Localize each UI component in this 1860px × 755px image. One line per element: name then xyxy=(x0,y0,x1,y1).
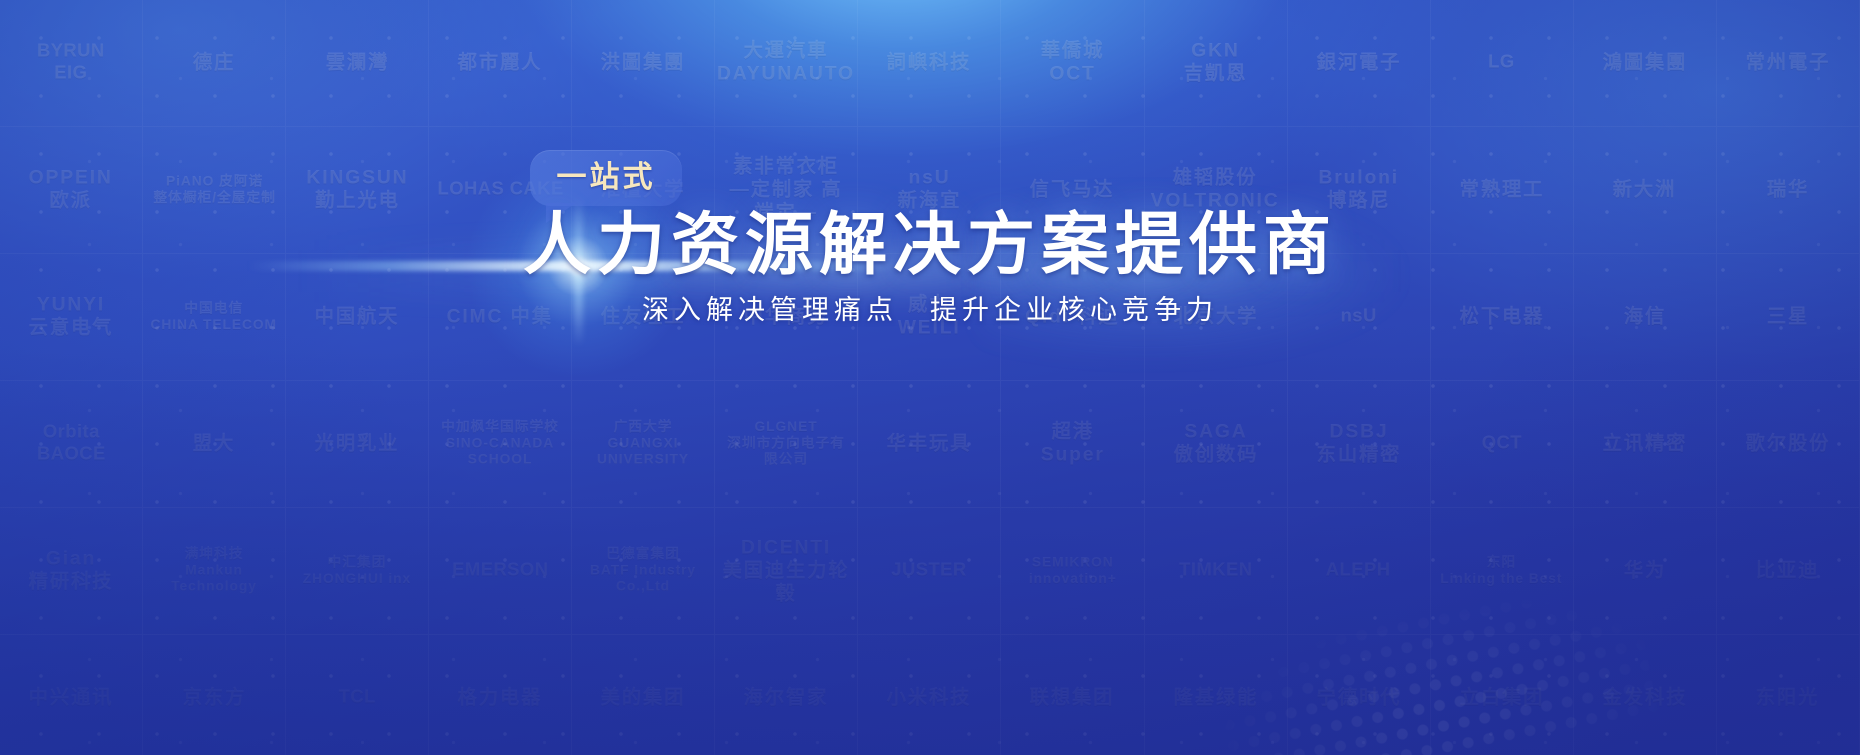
partner-logo: 联想集团 xyxy=(1030,687,1115,710)
logo-wall-cell: DICENTI 美国迪生力轮毂 xyxy=(715,508,858,635)
badge-label: 一站式 xyxy=(557,163,656,193)
logo-wall-cell: 隆基绿能 xyxy=(1145,635,1288,755)
page-title: 人力资源解决方案提供商 xyxy=(523,205,1337,285)
logo-wall-cell: 小米科技 xyxy=(858,635,1001,755)
subtitle-container: 深入解决管理痛点 提升企业核心竞争力 xyxy=(0,292,1860,330)
logo-wall-cell: 常州電子 xyxy=(1717,0,1860,127)
partner-logo: 美的集团 xyxy=(601,687,686,710)
partner-logo: ALEPH xyxy=(1326,560,1391,582)
partner-logo: 京东方 xyxy=(182,687,245,710)
logo-wall-cell: 大運汽車 DAYUNAUTO xyxy=(715,0,858,127)
logo-wall-cell: SEMIKRON innovation+ xyxy=(1001,508,1144,635)
logo-wall-cell: 鴻圖集團 xyxy=(1574,0,1717,127)
partner-logo: 銀河電子 xyxy=(1316,52,1401,75)
partner-logo: 都市麗人 xyxy=(458,52,543,75)
partner-logo: TCL xyxy=(339,687,376,709)
partner-logo: 超港 Super xyxy=(1040,421,1104,467)
partner-logo: EMERSON xyxy=(452,560,548,582)
partner-logo: 新大洲 xyxy=(1613,179,1676,202)
logo-wall-cell: 华丰玩具 xyxy=(858,381,1001,508)
partner-logo: PiANO 皮阿诺 整体橱柜/全屋定制 xyxy=(153,174,276,207)
logo-wall-cell: 华为 xyxy=(1574,508,1717,635)
partner-logo: GKN 吉凱恩 xyxy=(1184,40,1247,86)
partner-logo: 广西大学 GUANGXI UNIVERSITY xyxy=(578,420,709,469)
logo-wall-cell: 歌尔股份 xyxy=(1717,381,1860,508)
logo-wall-cell: 立白集团 xyxy=(1431,635,1574,755)
logo-wall-cell: 洪圖集團 xyxy=(572,0,715,127)
logo-wall-cell: EMERSON xyxy=(429,508,572,635)
partner-logo: 小米科技 xyxy=(887,687,972,710)
partner-logo: 常州電子 xyxy=(1745,52,1830,75)
logo-wall-cell: 詞嶼科技 xyxy=(858,0,1001,127)
partner-logo: 詞嶼科技 xyxy=(887,52,972,75)
logo-wall-cell: TIMKEN xyxy=(1145,508,1288,635)
partner-logo: 华为 xyxy=(1624,560,1666,583)
logo-wall-cell: LG xyxy=(1431,0,1574,127)
logo-wall-cell: 德庄 xyxy=(143,0,286,127)
logo-wall-cell: ALEPH xyxy=(1288,508,1431,635)
logo-wall-cell: Gian 精研科技 xyxy=(0,508,143,635)
partner-logo: 中汇集团 ZHONGHUI inx xyxy=(303,555,411,588)
page-subtitle: 深入解决管理痛点 提升企业核心竞争力 xyxy=(642,292,1218,330)
logo-wall-cell: 光明乳业 xyxy=(286,381,429,508)
logo-wall-cell: Orbita BAOCE xyxy=(0,381,143,508)
logo-wall-cell: 超港 Super xyxy=(1001,381,1144,508)
logo-wall-cell: 都市麗人 xyxy=(429,0,572,127)
logo-wall-cell: 立讯精密 xyxy=(1574,381,1717,508)
partner-logo: SEMIKRON innovation+ xyxy=(1028,555,1116,588)
partner-logo: 巴德富集团 BATF Industry Co.,Ltd xyxy=(578,547,709,596)
tagline-badge[interactable]: 一站式 xyxy=(530,150,682,206)
partner-logo: 金发科技 xyxy=(1602,687,1687,710)
partner-logo: DSBJ 东山精密 xyxy=(1316,421,1401,467)
partner-logo: TIMKEN xyxy=(1179,560,1252,582)
partner-logo: GLGNET 深圳市方向电子有限公司 xyxy=(721,420,852,469)
logo-wall-cell: 美的集团 xyxy=(572,635,715,755)
logo-wall-cell: 联想集团 xyxy=(1001,635,1144,755)
logo-wall-cell: QCT xyxy=(1431,381,1574,508)
partner-logo: 华丰玩具 xyxy=(887,433,972,456)
logo-wall-cell: JUSTER xyxy=(858,508,1001,635)
partner-logo: 大運汽車 DAYUNAUTO xyxy=(717,40,855,86)
logo-wall-cell: TCL xyxy=(286,635,429,755)
logo-wall-cell: 華僑城 OCT xyxy=(1001,0,1144,127)
partner-logo: 海尔智家 xyxy=(744,687,829,710)
partner-logo: 信飞马达 xyxy=(1030,179,1115,202)
partner-logo: 比亚迪 xyxy=(1756,560,1819,583)
partner-logo: QCT xyxy=(1482,433,1522,455)
logo-wall-cell: 中汇集团 ZHONGHUI inx xyxy=(286,508,429,635)
logo-wall-cell: 比亚迪 xyxy=(1717,508,1860,635)
logo-wall-cell: 金发科技 xyxy=(1574,635,1717,755)
partner-logo: 德庄 xyxy=(193,52,235,75)
partner-logo: 華僑城 OCT xyxy=(1041,40,1104,86)
partner-logo: 宁德时代 xyxy=(1316,687,1401,710)
partner-logo: 东阳光 xyxy=(1756,687,1819,710)
partner-logo: 格力电器 xyxy=(458,687,543,710)
logo-wall-cell: 中兴通讯 xyxy=(0,635,143,755)
logo-wall-cell: 銀河電子 xyxy=(1288,0,1431,127)
logo-wall-cell: 宁德时代 xyxy=(1288,635,1431,755)
partner-logo: 东阳 Linking the Best xyxy=(1441,555,1563,588)
partner-logo: BYRUN EIG xyxy=(37,41,105,84)
logo-wall-cell: SAGA 傲创数码 xyxy=(1145,381,1288,508)
logo-wall-cell: 海尔智家 xyxy=(715,635,858,755)
partner-logo: 中加枫华国际学校 SINO-CANADA SCHOOL xyxy=(435,420,566,469)
partner-logo: 盟大 xyxy=(193,433,235,456)
logo-wall-cell: GLGNET 深圳市方向电子有限公司 xyxy=(715,381,858,508)
logo-wall-cell: 京东方 xyxy=(143,635,286,755)
partner-logo: 立讯精密 xyxy=(1602,433,1687,456)
partner-logo: 雲瀾灣 xyxy=(325,52,388,75)
logo-wall-cell: BYRUN EIG xyxy=(0,0,143,127)
logo-wall-cell: 广西大学 GUANGXI UNIVERSITY xyxy=(572,381,715,508)
partner-logo: 隆基绿能 xyxy=(1173,687,1258,710)
partner-logo: 光明乳业 xyxy=(315,433,400,456)
partner-logo: LG xyxy=(1488,52,1514,74)
logo-wall-cell: 雲瀾灣 xyxy=(286,0,429,127)
hero-banner: BYRUN EIG德庄雲瀾灣都市麗人洪圖集團大運汽車 DAYUNAUTO詞嶼科技… xyxy=(0,0,1860,755)
partner-logo: 常熟理工 xyxy=(1459,179,1544,202)
logo-wall-cell: 中加枫华国际学校 SINO-CANADA SCHOOL xyxy=(429,381,572,508)
logo-wall-cell: GKN 吉凱恩 xyxy=(1145,0,1288,127)
partner-logo: Gian 精研科技 xyxy=(29,548,114,594)
partner-logo: 中兴通讯 xyxy=(29,687,114,710)
partner-logo: DICENTI 美国迪生力轮毂 xyxy=(721,537,852,605)
headline-container: 人力资源解决方案提供商 xyxy=(0,205,1860,285)
partner-logo: SAGA 傲创数码 xyxy=(1173,421,1258,467)
partner-logo: 鴻圖集團 xyxy=(1602,52,1687,75)
logo-wall-background: BYRUN EIG德庄雲瀾灣都市麗人洪圖集團大運汽車 DAYUNAUTO詞嶼科技… xyxy=(0,0,1860,755)
partner-logo: 歌尔股份 xyxy=(1745,433,1830,456)
partner-logo: 洪圖集團 xyxy=(601,52,686,75)
partner-logo: 瑞华 xyxy=(1767,179,1809,202)
logo-wall-cell: 东阳 Linking the Best xyxy=(1431,508,1574,635)
logo-wall-cell: 满坤科技 Mankun Technology xyxy=(143,508,286,635)
logo-wall-cell: DSBJ 东山精密 xyxy=(1288,381,1431,508)
partner-logo: Orbita BAOCE xyxy=(37,422,106,465)
partner-logo: 立白集团 xyxy=(1459,687,1544,710)
logo-wall-cell: 巴德富集团 BATF Industry Co.,Ltd xyxy=(572,508,715,635)
partner-logo: 满坤科技 Mankun Technology xyxy=(149,547,280,596)
logo-wall-cell: 格力电器 xyxy=(429,635,572,755)
badge-bubble[interactable]: 一站式 xyxy=(530,150,682,206)
partner-logo: JUSTER xyxy=(892,560,967,582)
logo-wall-cell: 盟大 xyxy=(143,381,286,508)
logo-wall-cell: 东阳光 xyxy=(1717,635,1860,755)
